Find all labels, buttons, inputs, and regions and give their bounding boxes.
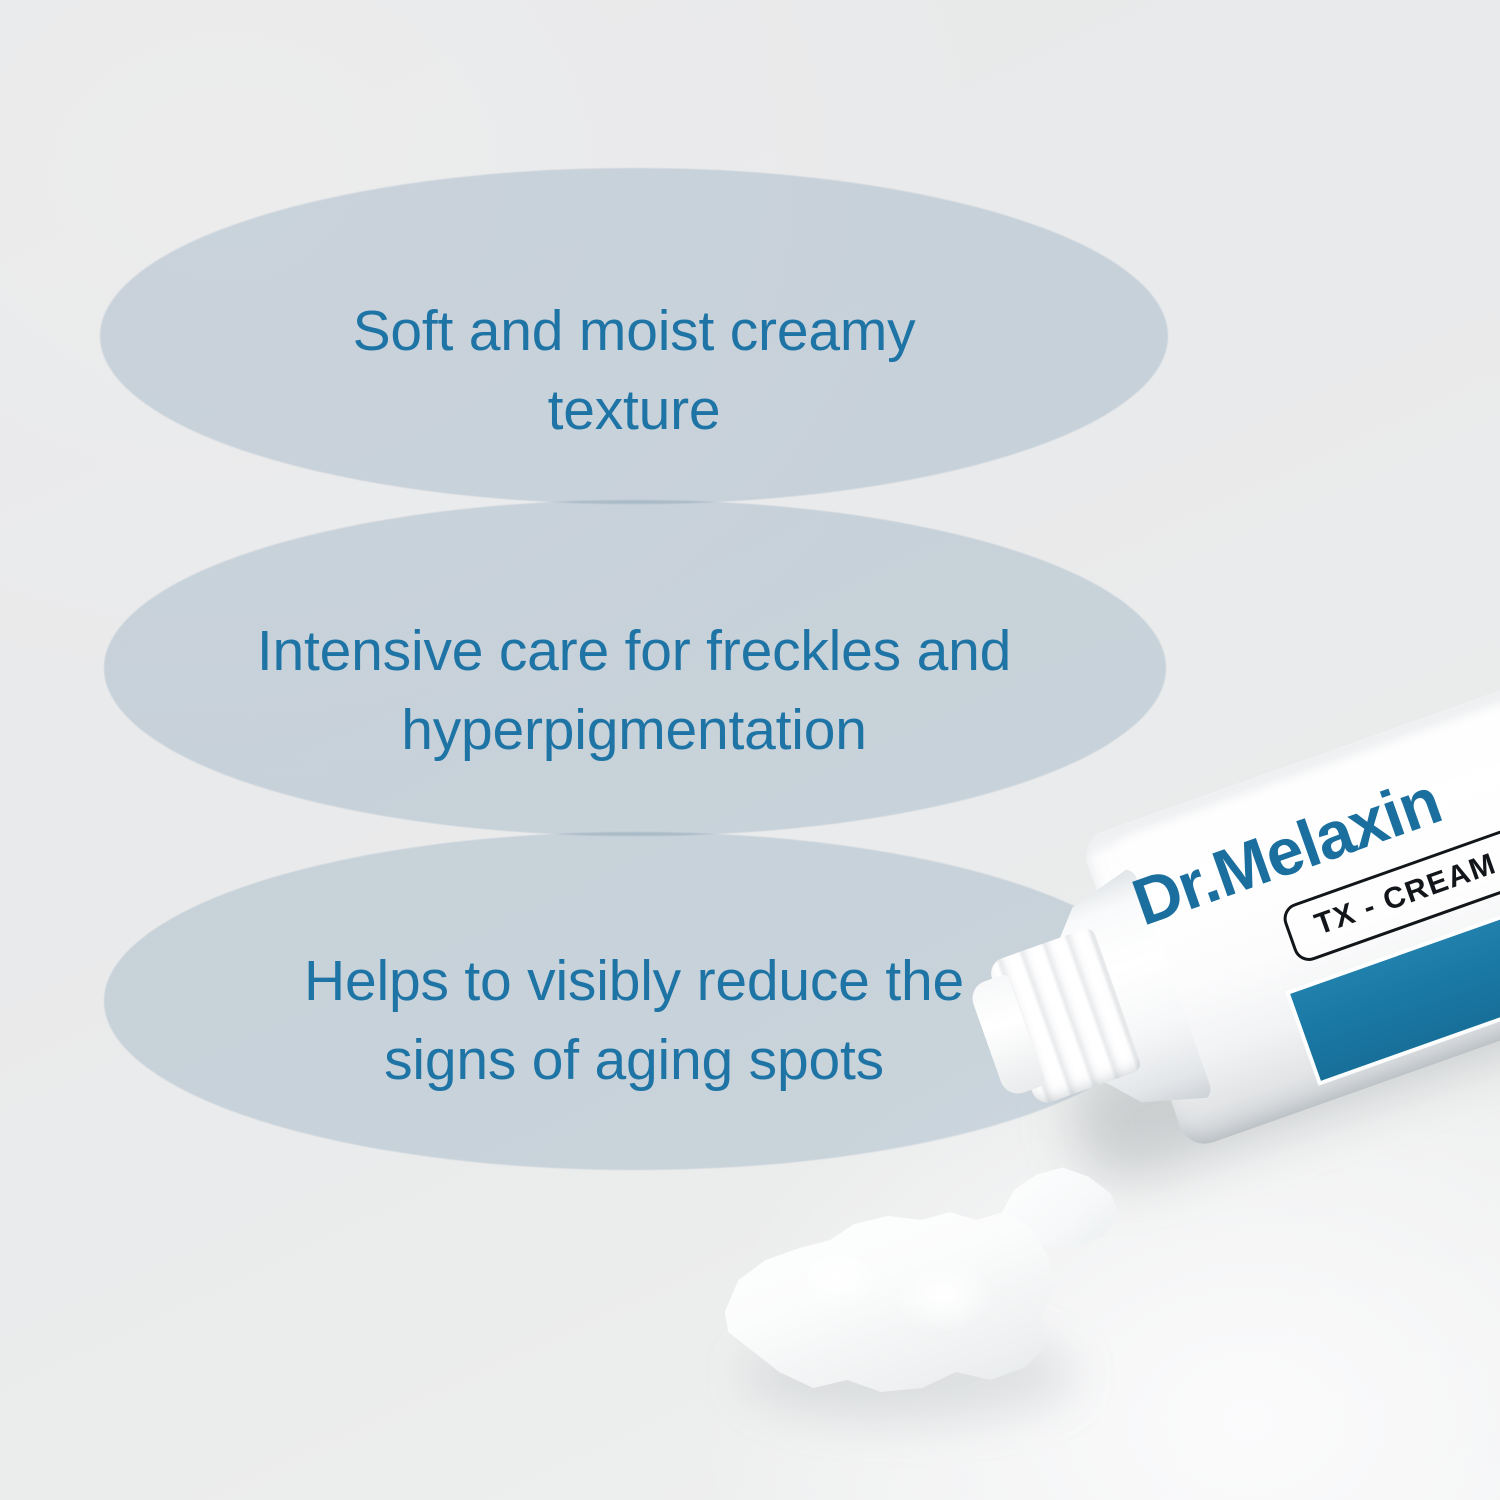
product-benefits-graphic: Soft and moist creamy texture Intensive … [0,0,1500,1500]
benefit-text-1: Soft and moist creamy texture [104,292,1164,449]
benefit-text-2: Intensive care for freckles and hyperpig… [104,612,1164,769]
